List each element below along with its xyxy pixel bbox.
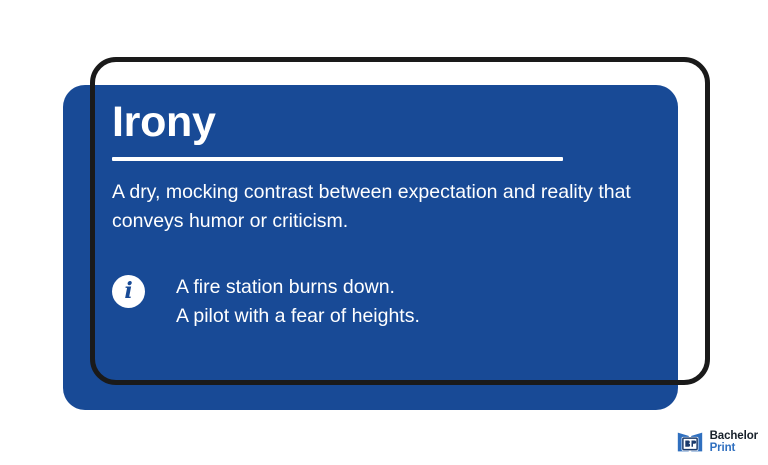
info-icon-glyph: i [124, 280, 132, 302]
brand-logo: Bachelor Print [675, 427, 758, 457]
info-icon: i [112, 275, 145, 308]
open-book-bp-icon [675, 427, 705, 457]
definition-text: A dry, mocking contrast between expectat… [112, 178, 632, 235]
list-item: A pilot with a fear of heights. [176, 302, 420, 331]
page-title: Irony [112, 100, 642, 145]
example-row: i A fire station burns down. A pilot wit… [112, 273, 642, 331]
list-item: A fire station burns down. [176, 273, 420, 302]
title-divider [112, 157, 563, 161]
brand-name-line2: Print [710, 442, 758, 454]
example-list: A fire station burns down. A pilot with … [176, 273, 420, 331]
card-content: Irony A dry, mocking contrast between ex… [112, 100, 642, 331]
brand-logo-text: Bachelor Print [710, 430, 758, 454]
infographic-canvas: Irony A dry, mocking contrast between ex… [0, 0, 768, 465]
brand-name-line1: Bachelor [710, 430, 758, 442]
